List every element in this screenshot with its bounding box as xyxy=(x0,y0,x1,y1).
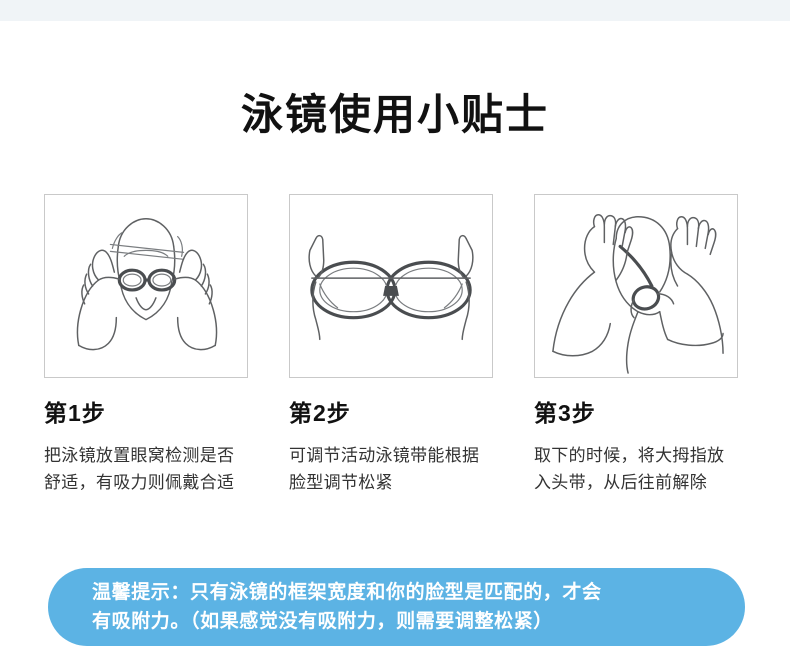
steps-container: 第1步 把泳镜放置眼窝检测是否舒适，有吸力则佩戴合适 第2步 xyxy=(44,194,740,497)
step-heading: 第2步 xyxy=(289,400,495,428)
step-description: 把泳镜放置眼窝检测是否舒适，有吸力则佩戴合适 xyxy=(44,442,244,497)
page-title: 泳镜使用小贴士 xyxy=(0,92,790,138)
goggles-placed-on-eyes-illustration xyxy=(44,194,248,378)
step-3: 第3步 取下的时候，将大拇指放入头带，从后往前解除 xyxy=(534,194,740,497)
step-heading: 第1步 xyxy=(44,400,250,428)
step-heading: 第3步 xyxy=(534,400,740,428)
top-strip xyxy=(0,0,790,21)
goggles-closeup-illustration xyxy=(289,194,493,378)
step-description: 可调节活动泳镜带能根据脸型调节松紧 xyxy=(289,442,489,497)
step-1: 第1步 把泳镜放置眼窝检测是否舒适，有吸力则佩戴合适 xyxy=(44,194,250,497)
tip-banner-line-1: 温馨提示：只有泳镜的框架宽度和你的脸型是匹配的，才会 xyxy=(92,578,715,607)
tip-banner: 温馨提示：只有泳镜的框架宽度和你的脸型是匹配的，才会 有吸附力。（如果感觉没有吸… xyxy=(48,568,745,646)
step-description: 取下的时候，将大拇指放入头带，从后往前解除 xyxy=(534,442,734,497)
step-2: 第2步 可调节活动泳镜带能根据脸型调节松紧 xyxy=(289,194,495,497)
goggles-removal-illustration xyxy=(534,194,738,378)
tip-banner-line-2: 有吸附力。（如果感觉没有吸附力，则需要调整松紧） xyxy=(92,607,715,636)
